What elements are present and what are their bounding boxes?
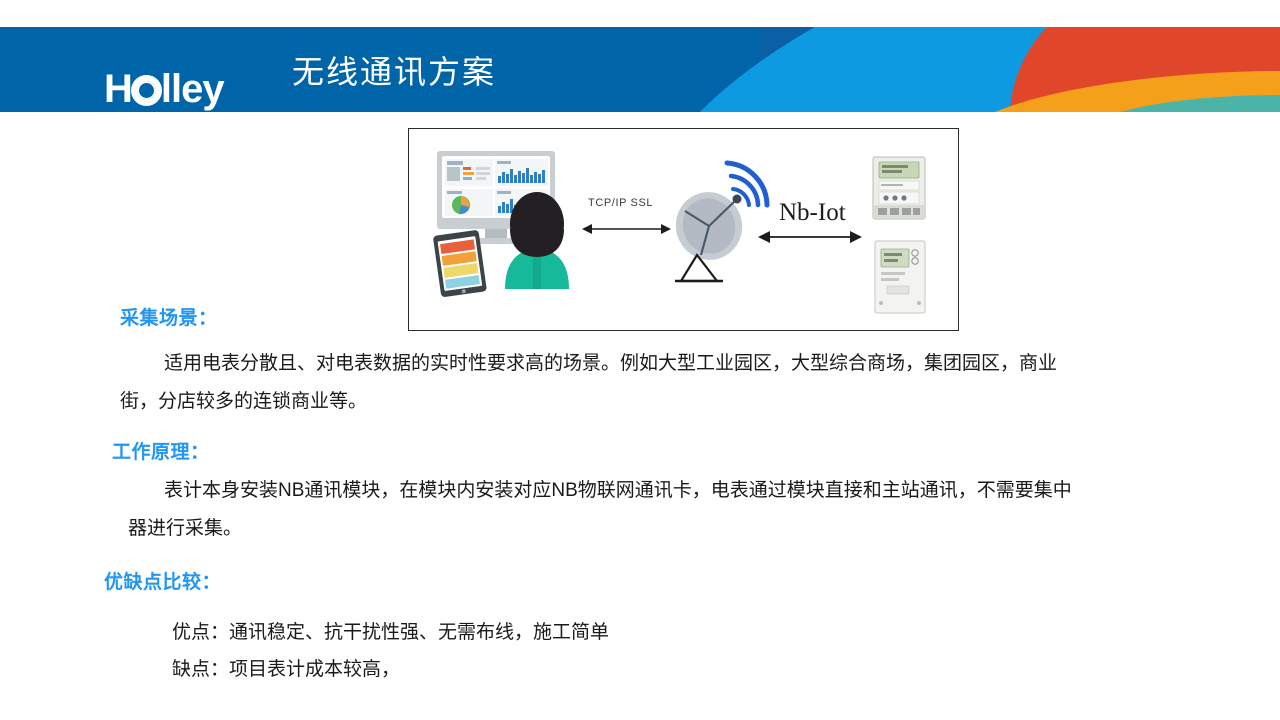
page-title: 无线通讯方案	[292, 47, 496, 93]
principle-line-1: 表计本身安装NB通讯模块，在模块内安装对应NB物联网通讯卡，电表通过模块直接和主…	[120, 472, 1205, 510]
operator-at-dashboard-icon	[433, 151, 569, 297]
cons-line: 缺点：项目表计成本较高，	[172, 654, 400, 681]
section-heading-scenario: 采集场景：	[120, 303, 218, 330]
header-band: Hlley T E C H 华 立 科 技	[0, 27, 1280, 112]
architecture-diagram: TCP/IP SSL Nb-Iot	[408, 128, 959, 331]
section-heading-proscons: 优缺点比较：	[104, 567, 221, 594]
section-heading-principle: 工作原理：	[112, 437, 210, 464]
pros-line: 优点：通讯稳定、抗干扰性强、无需布线，施工简单	[172, 617, 609, 644]
diagram-graphic	[409, 129, 957, 329]
slide-root: Hlley T E C H 华 立 科 技 无线通讯方案	[0, 0, 1280, 720]
scenario-line-1: 适用电表分散且、对电表数据的实时性要求高的场景。例如大型工业园区，大型综合商场，…	[120, 345, 1195, 383]
section-body-principle: 表计本身安装NB通讯模块，在模块内安装对应NB物联网通讯卡，电表通过模块直接和主…	[120, 472, 1205, 548]
electric-meter-bottom-icon	[875, 241, 925, 313]
logo-wordmark: Hlley	[104, 69, 264, 109]
scenario-line-2: 街，分店较多的连锁商业等。	[120, 383, 1195, 421]
logo-letter-h: H	[104, 67, 132, 111]
principle-line-2: 器进行采集。	[120, 510, 1205, 548]
link-label-tcpip: TCP/IP SSL	[588, 197, 653, 209]
electric-meter-top-icon	[873, 157, 925, 219]
link-label-nbiot: Nb-Iot	[779, 199, 846, 227]
satellite-dish-icon	[666, 163, 767, 281]
holley-logo: Hlley T E C H 华 立 科 技	[104, 69, 264, 112]
logo-ring-icon	[131, 75, 162, 106]
section-body-scenario: 适用电表分散且、对电表数据的实时性要求高的场景。例如大型工业园区，大型综合商场，…	[120, 345, 1195, 421]
logo-letters-lley: lley	[161, 67, 224, 111]
